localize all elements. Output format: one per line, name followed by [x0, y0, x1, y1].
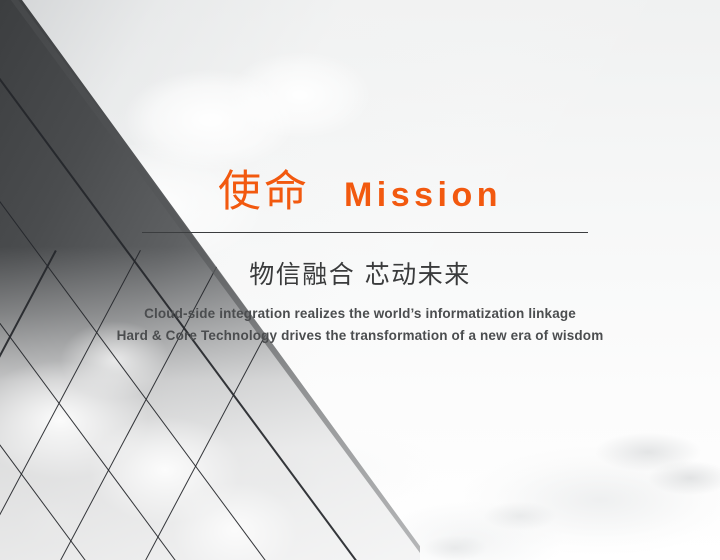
description-line-2: Hard & Core Technology drives the transf…: [0, 325, 720, 347]
mission-banner: 使命Mission 物信融合 芯动未来 Cloud-side integrati…: [0, 0, 720, 560]
text-content: 使命Mission 物信融合 芯动未来 Cloud-side integrati…: [0, 0, 720, 560]
title-chinese: 使命: [218, 167, 310, 217]
title-english: Mission: [344, 176, 502, 214]
mission-description: Cloud-side integration realizes the worl…: [0, 303, 720, 347]
mission-subtitle: 物信融合 芯动未来: [0, 259, 720, 290]
mission-title: 使命Mission: [0, 171, 720, 214]
title-divider: [142, 232, 588, 233]
description-line-1: Cloud-side integration realizes the worl…: [0, 303, 720, 325]
